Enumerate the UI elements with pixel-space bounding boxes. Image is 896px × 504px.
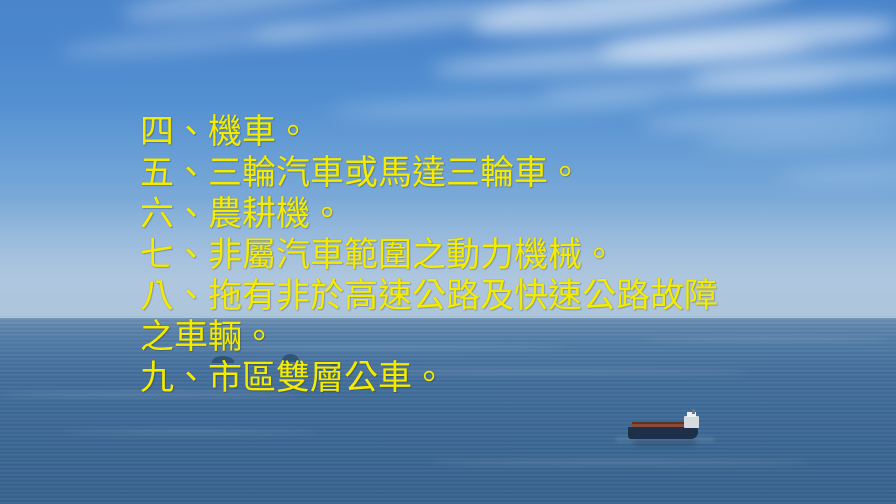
video-frame: 四、機車。 五、三輪汽車或馬達三輪車。 六、農耕機。 七、非屬汽車範圍之動力機械…	[0, 0, 896, 504]
subtitle-line: 六、農耕機。	[140, 194, 880, 235]
subtitle-line: 五、三輪汽車或馬達三輪車。	[140, 153, 880, 194]
subtitle-line: 四、機車。	[140, 112, 880, 153]
subtitle-line: 九、市區雙層公車。	[140, 358, 880, 399]
subtitle-line: 七、非屬汽車範圍之動力機械。	[140, 235, 880, 276]
subtitle-line: 八、拖有非於高速公路及快速公路故障	[140, 276, 880, 317]
subtitle-overlay: 四、機車。 五、三輪汽車或馬達三輪車。 六、農耕機。 七、非屬汽車範圍之動力機械…	[140, 112, 880, 399]
subtitle-line: 之車輛。	[140, 317, 880, 358]
